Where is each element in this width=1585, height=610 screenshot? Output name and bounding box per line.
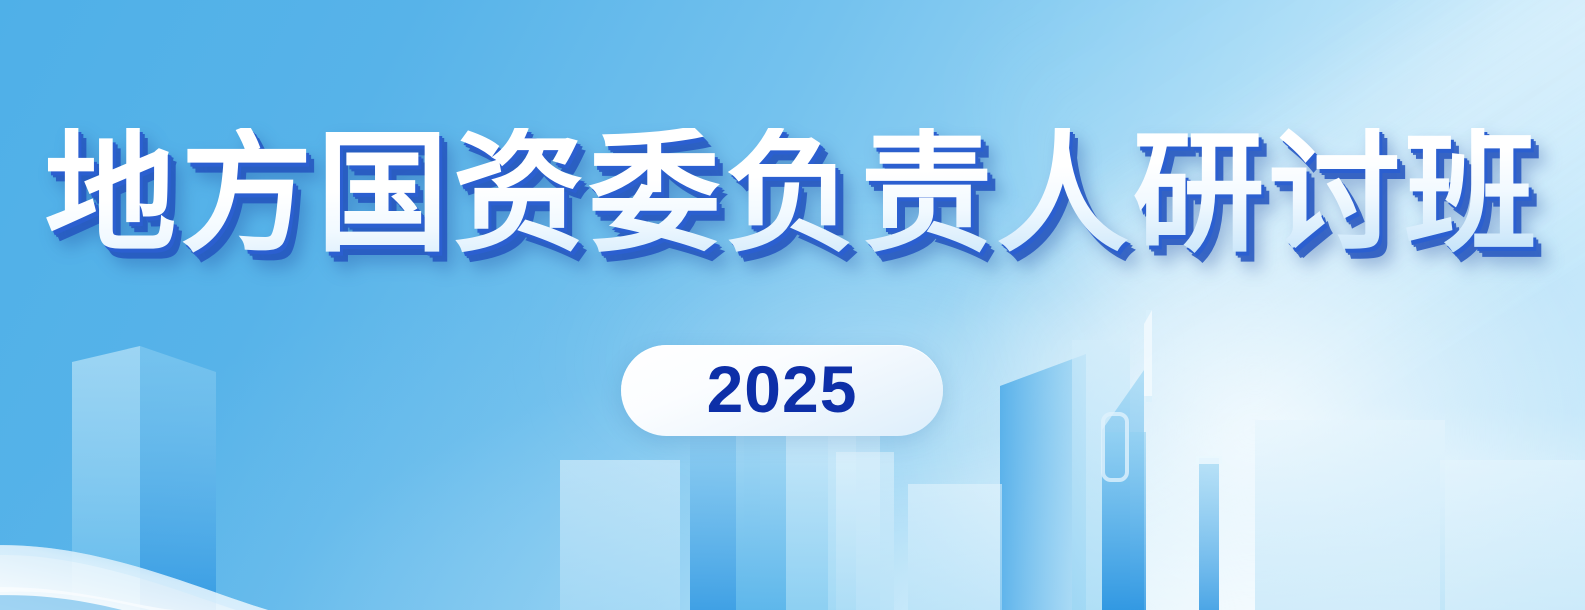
decor-swoosh-bottom-left bbox=[0, 350, 430, 610]
page-title-text: 地方国资委负责人研讨班 bbox=[45, 128, 1541, 260]
banner-root: 地方国资委负责人研讨班 2025 bbox=[0, 0, 1585, 610]
swoosh-icon bbox=[0, 350, 430, 610]
year-badge-text: 2025 bbox=[707, 356, 858, 422]
year-badge: 2025 bbox=[621, 345, 943, 436]
light-streak-top-right-secondary bbox=[958, 0, 1585, 554]
page-title: 地方国资委负责人研讨班 bbox=[0, 128, 1585, 260]
